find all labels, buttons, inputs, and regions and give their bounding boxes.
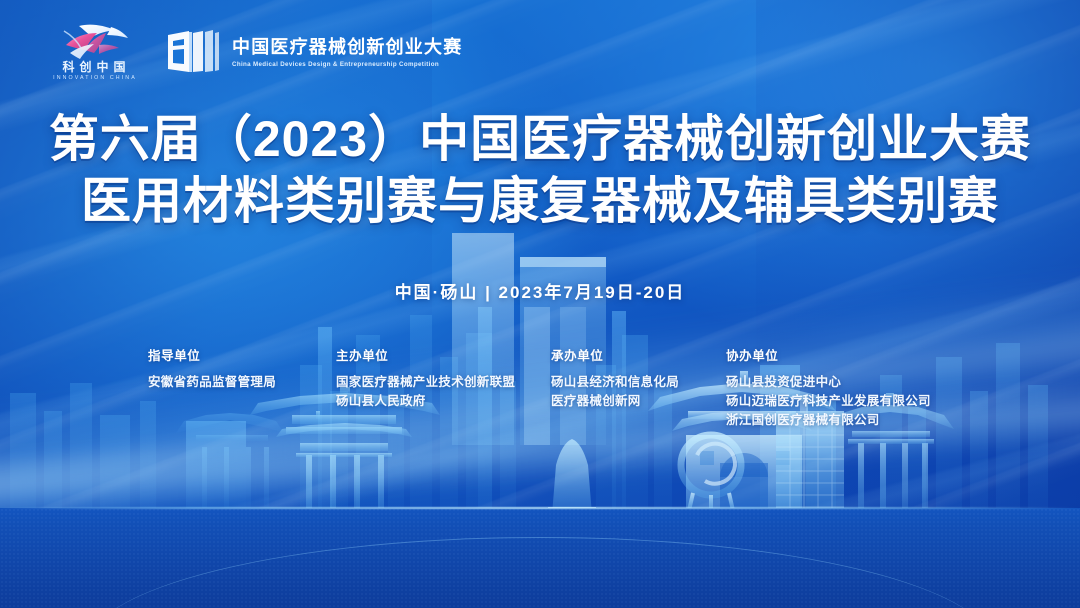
sponsor-item: 浙江国创医疗器械有限公司 [726, 411, 976, 430]
sponsor-column-coorganizer: 协办单位 砀山县投资促进中心 砀山迈瑞医疗科技产业发展有限公司 浙江国创医疗器械… [726, 345, 976, 430]
open-book-chuang-icon [166, 30, 220, 76]
competition-logo: 中国医疗器械创新创业大赛 China Medical Devices Desig… [166, 30, 462, 76]
title-line-1: 第六届（2023）中国医疗器械创新创业大赛 [0, 108, 1080, 170]
sponsor-item: 砀山迈瑞医疗科技产业发展有限公司 [726, 392, 976, 411]
phoenix-bird-icon [57, 22, 131, 60]
kechuang-china-logo: 科创中国 INNOVATION CHINA [46, 22, 142, 84]
title-line-2: 医用材料类别赛与康复器械及辅具类别赛 [0, 170, 1080, 232]
kechuang-logo-en: INNOVATION CHINA [51, 76, 137, 81]
sponsor-item: 砀山县投资促进中心 [726, 373, 976, 392]
sponsor-heading: 主办单位 [336, 345, 551, 364]
sponsor-item: 国家医疗器械产业技术创新联盟 [336, 373, 551, 392]
sponsor-columns: 指导单位 安徽省药品监督管理局 主办单位 国家医疗器械产业技术创新联盟 砀山县人… [148, 345, 978, 430]
location-date-subtitle: 中国·砀山 | 2023年7月19日-20日 [0, 278, 1080, 303]
sponsor-heading: 承办单位 [551, 345, 726, 364]
competition-logo-en: China Medical Devices Design & Entrepren… [232, 61, 462, 68]
competition-logo-cn: 中国医疗器械创新创业大赛 [232, 38, 462, 57]
sponsor-heading: 协办单位 [726, 345, 976, 364]
sponsor-item: 砀山县经济和信息化局 [551, 373, 726, 392]
sponsor-column-guidance: 指导单位 安徽省药品监督管理局 [148, 345, 336, 430]
logo-row: 科创中国 INNOVATION CHINA 中国医疗器械创新创业大赛 China… [46, 22, 462, 84]
competition-logo-text: 中国医疗器械创新创业大赛 China Medical Devices Desig… [232, 38, 462, 68]
conference-banner: 科创中国 INNOVATION CHINA 中国医疗器械创新创业大赛 China… [0, 0, 1080, 608]
sponsor-item: 砀山县人民政府 [336, 392, 551, 411]
sponsor-heading: 指导单位 [148, 345, 336, 364]
sponsor-column-host: 主办单位 国家医疗器械产业技术创新联盟 砀山县人民政府 [336, 345, 551, 430]
kechuang-logo-cn: 科创中国 [57, 61, 130, 73]
sponsor-item: 安徽省药品监督管理局 [148, 373, 336, 392]
sponsor-column-organizer: 承办单位 砀山县经济和信息化局 医疗器械创新网 [551, 345, 726, 430]
main-title-block: 第六届（2023）中国医疗器械创新创业大赛 医用材料类别赛与康复器械及辅具类别赛 [0, 108, 1080, 232]
ground-arc-line [86, 537, 993, 608]
sponsor-item: 医疗器械创新网 [551, 392, 726, 411]
ground-overlay [0, 508, 1080, 608]
